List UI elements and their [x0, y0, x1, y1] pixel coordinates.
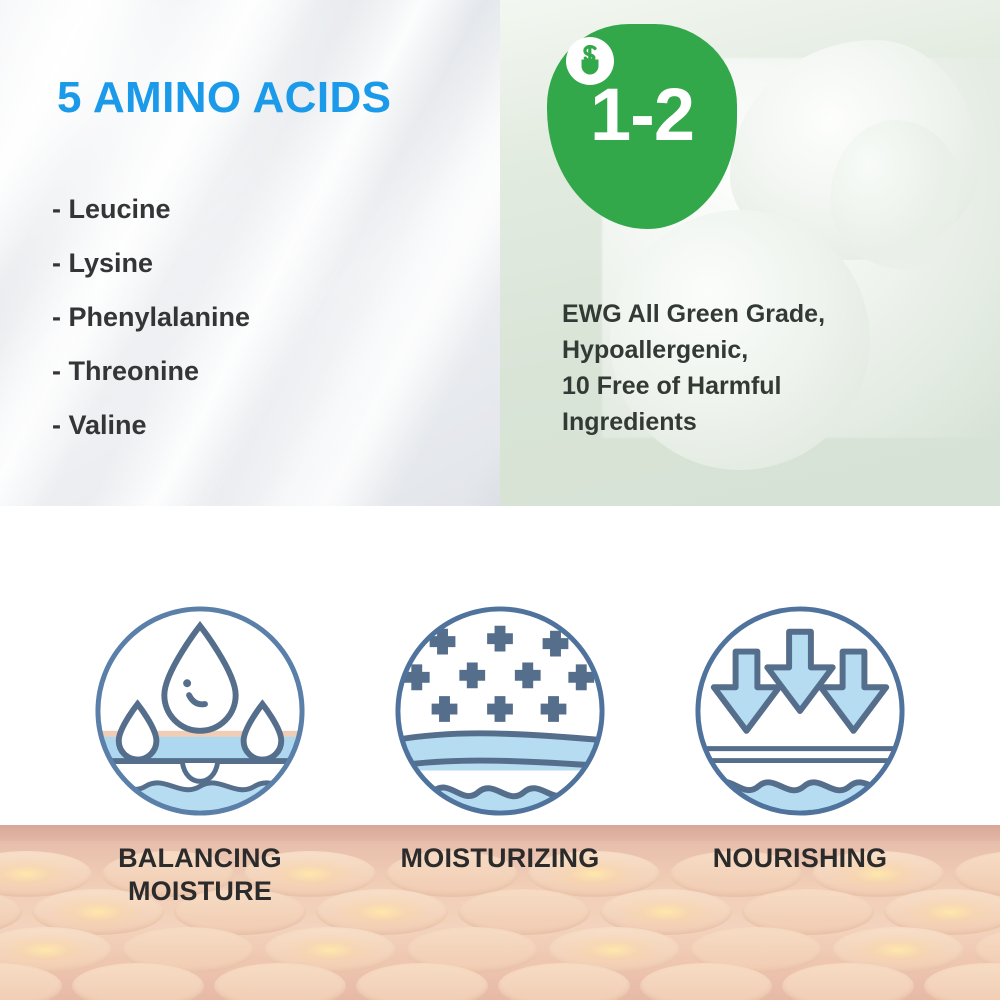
list-item: - Valine: [52, 412, 250, 439]
plus-particles-skin-icon: [391, 602, 609, 820]
ewg-grade-badge: 1-2: [547, 24, 737, 229]
benefit-label-line1: NOURISHING: [713, 843, 888, 873]
benefits-panel: BALANCING MOISTURE: [0, 506, 1000, 1000]
ewg-description-line: Hypoallergenic,: [562, 332, 825, 368]
benefit-label-line1: BALANCING: [118, 843, 282, 873]
benefit-label: NOURISHING: [635, 842, 965, 875]
down-arrows-absorption-icon: [691, 602, 909, 820]
ewg-description-line: Ingredients: [562, 404, 825, 440]
ewg-panel: 1-2 EWG All Green Grade, Hypoallergenic,…: [500, 0, 1000, 506]
benefit-balancing-moisture: BALANCING MOISTURE: [35, 602, 365, 908]
benefit-nourishing: NOURISHING: [635, 602, 965, 875]
benefit-label-line1: MOISTURIZING: [401, 843, 600, 873]
benefit-label-line2: MOISTURE: [128, 876, 272, 906]
infographic-page: 5 AMINO ACIDS - Leucine - Lysine - Pheny…: [0, 0, 1000, 1000]
list-item: - Lysine: [52, 250, 250, 277]
cream-texture-tail: [830, 120, 960, 270]
ewg-description-line: 10 Free of Harmful: [562, 368, 825, 404]
skin-cell-row: [0, 963, 1000, 1000]
benefit-label: MOISTURIZING: [335, 842, 665, 875]
amino-acids-panel: 5 AMINO ACIDS - Leucine - Lysine - Pheny…: [0, 0, 500, 506]
list-item: - Threonine: [52, 358, 250, 385]
ewg-grade-value: 1-2: [547, 78, 737, 152]
benefit-label: BALANCING MOISTURE: [35, 842, 365, 908]
list-item: - Leucine: [52, 196, 250, 223]
amino-acid-list: - Leucine - Lysine - Phenylalanine - Thr…: [52, 196, 250, 466]
ewg-description-line: EWG All Green Grade,: [562, 296, 825, 332]
water-droplet-skin-icon: [91, 602, 309, 820]
benefit-moisturizing: MOISTURIZING: [335, 602, 665, 875]
list-item: - Phenylalanine: [52, 304, 250, 331]
ewg-description: EWG All Green Grade, Hypoallergenic, 10 …: [562, 296, 825, 440]
page-title: 5 AMINO ACIDS: [57, 76, 391, 120]
